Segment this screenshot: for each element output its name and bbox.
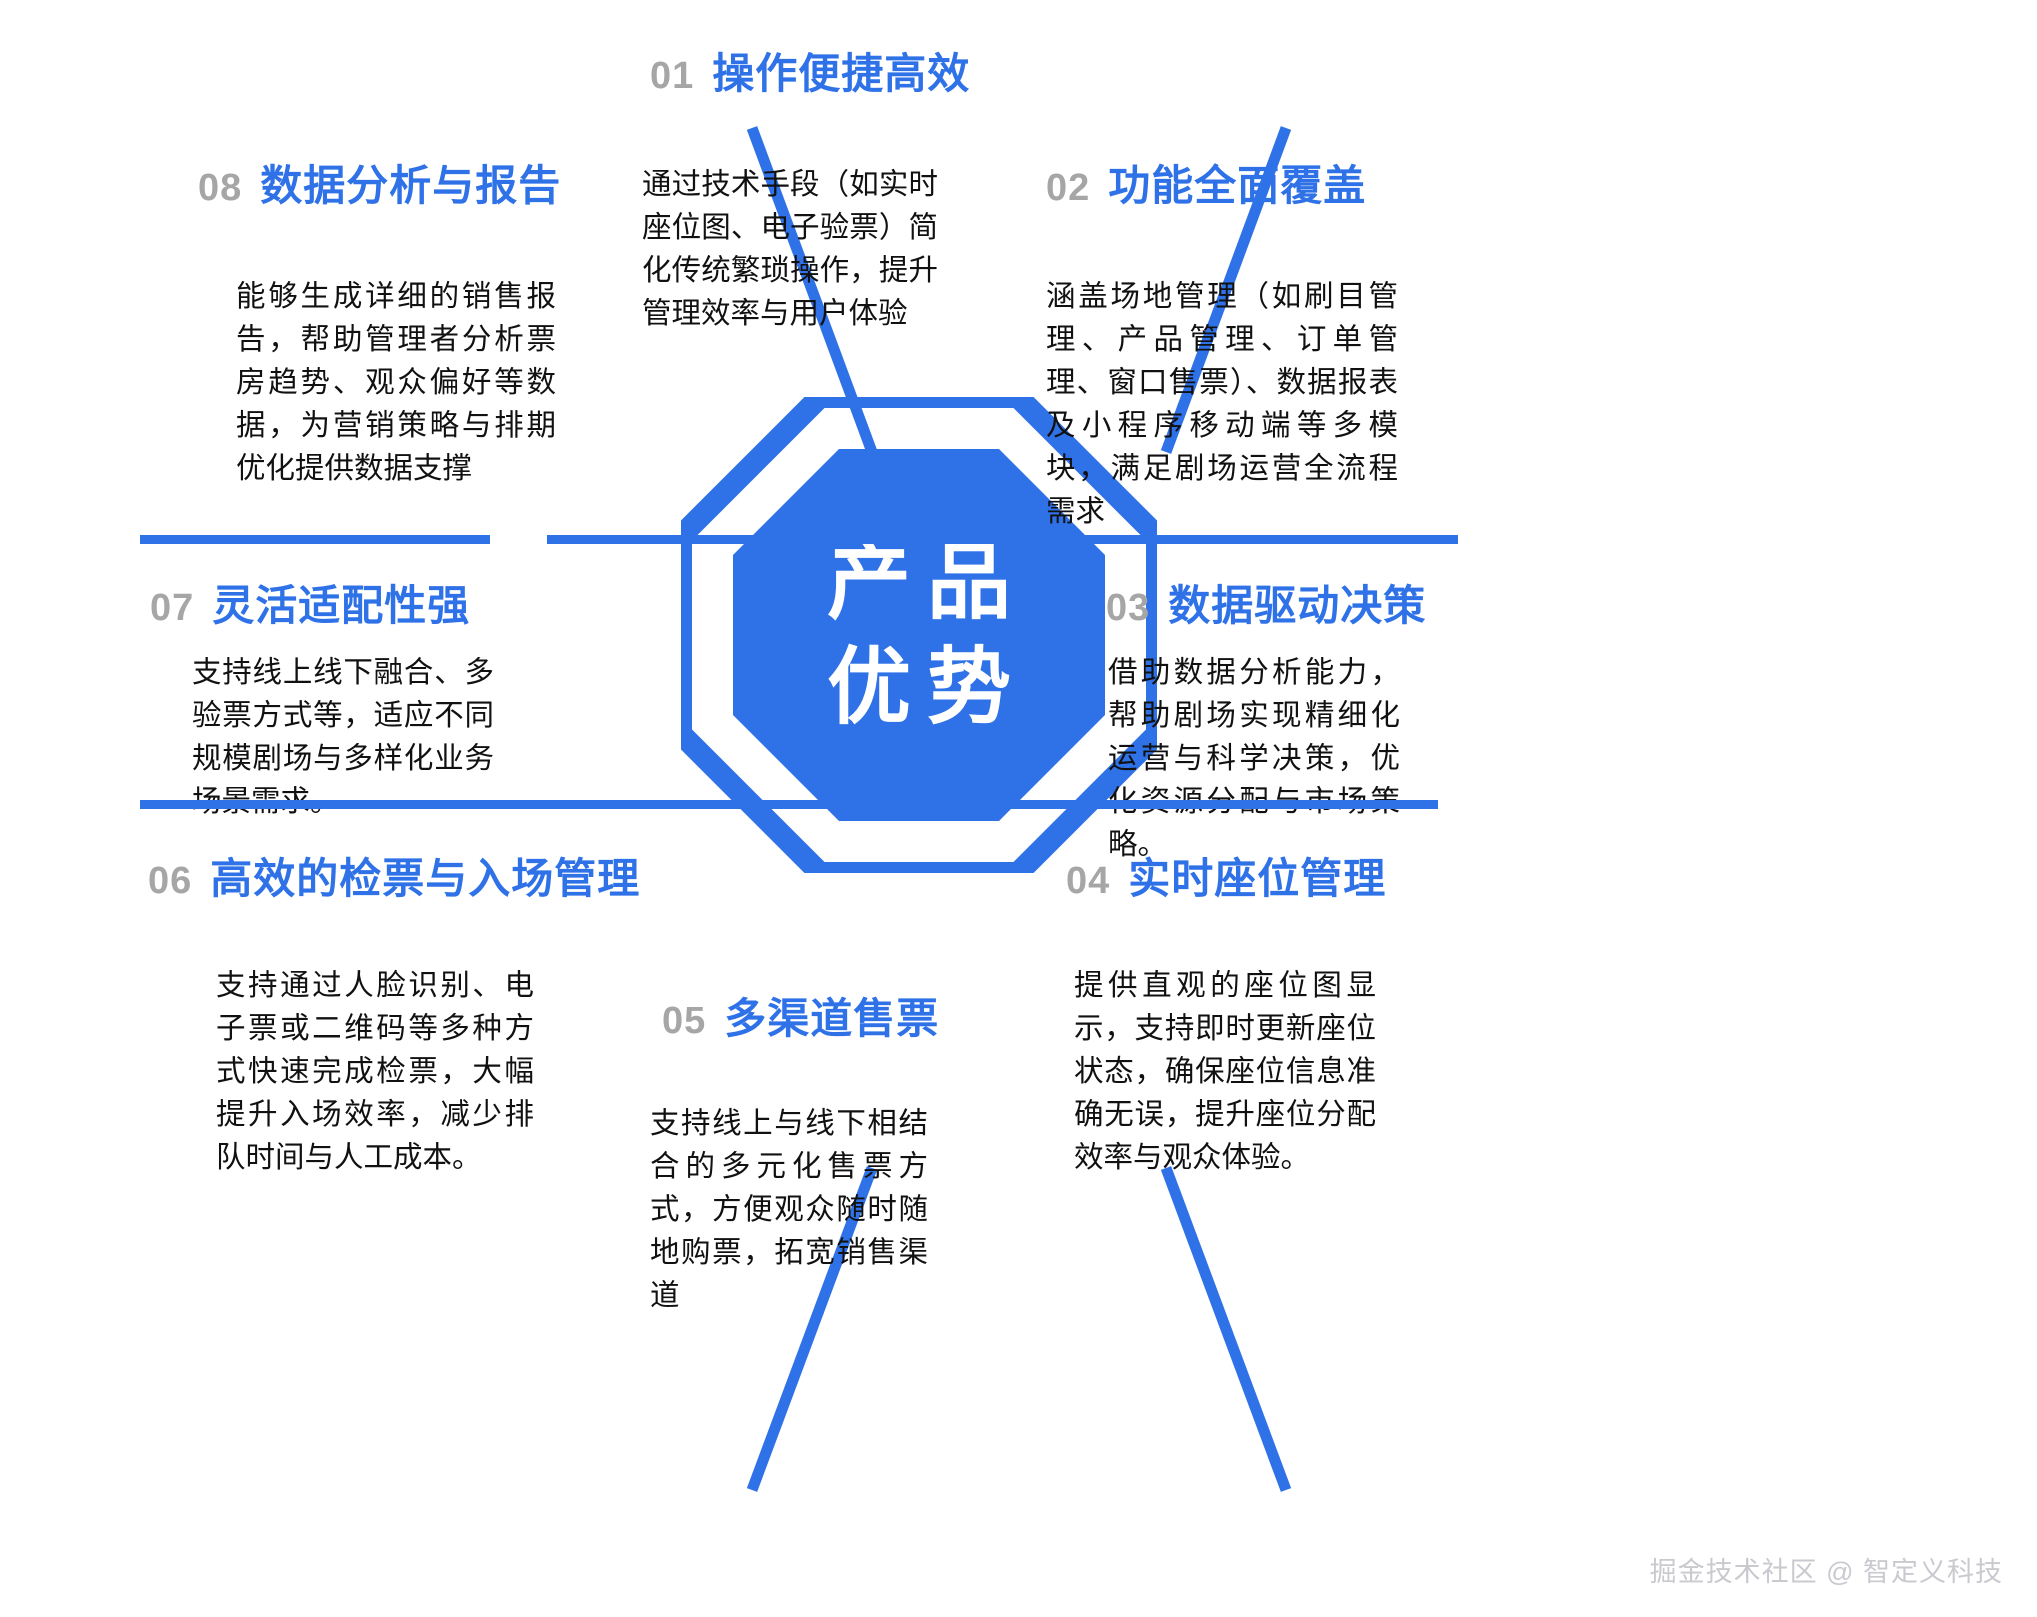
section-04-rule bbox=[527, 800, 1438, 809]
section-05-heading: 05 多渠道售票 bbox=[662, 985, 960, 1046]
section-03-rule bbox=[547, 535, 1458, 544]
section-06[interactable]: 06 高效的检票与入场管理 支持通过人脸识别、电子票或二维码等多种方式快速完成检… bbox=[140, 800, 570, 1179]
section-07-title: 灵活适配性强 bbox=[212, 572, 470, 633]
section-05-body: 支持线上与线下相结合的多元化售票方式，方便观众随时随地购票，拓宽销售渠道 bbox=[650, 1102, 928, 1317]
section-06-body: 支持通过人脸识别、电子票或二维码等多种方式快速完成检票，大幅提升入场效率，减少排… bbox=[216, 964, 534, 1179]
section-07-index: 07 bbox=[150, 587, 194, 630]
center-title-line2: 优势 bbox=[811, 638, 1027, 737]
section-01-title: 操作便捷高效 bbox=[712, 40, 970, 101]
section-04-body: 提供直观的座位图显示，支持即时更新座位状态，确保座位信息准确无误，提升座位分配效… bbox=[1074, 964, 1376, 1179]
section-02[interactable]: 02 功能全面覆盖 涵盖场地管理（如刷目管理、产品管理、订单管理、窗口售票）、数… bbox=[1046, 152, 1406, 533]
section-06-index: 06 bbox=[148, 860, 192, 903]
section-01-heading: 01 操作便捷高效 bbox=[650, 40, 962, 101]
section-01-index: 01 bbox=[650, 55, 694, 98]
section-03-title: 数据驱动决策 bbox=[1168, 572, 1426, 633]
section-07[interactable]: 07 灵活适配性强 支持线上线下融合、多验票方式等，适应不同规模剧场与多样化业务… bbox=[140, 535, 490, 823]
section-08-title: 数据分析与报告 bbox=[260, 152, 561, 213]
section-08-index: 08 bbox=[198, 167, 242, 210]
connector-bottom-right bbox=[1166, 1168, 1286, 1490]
section-06-title: 高效的检票与入场管理 bbox=[210, 845, 640, 906]
center-title-line1: 产品 bbox=[811, 533, 1027, 632]
section-07-heading: 07 灵活适配性强 bbox=[150, 572, 490, 633]
section-02-title: 功能全面覆盖 bbox=[1108, 152, 1366, 213]
section-08[interactable]: 08 数据分析与报告 能够生成详细的销售报告，帮助管理者分析票房趋势、观众偏好等… bbox=[198, 152, 548, 490]
section-08-body: 能够生成详细的销售报告，帮助管理者分析票房趋势、观众偏好等数据，为营销策略与排期… bbox=[236, 275, 556, 490]
section-05-index: 05 bbox=[662, 1000, 706, 1043]
watermark: 掘金技术社区 @ 智定义科技 bbox=[1650, 1550, 2003, 1589]
section-06-heading: 06 高效的检票与入场管理 bbox=[148, 845, 570, 906]
section-04-index: 04 bbox=[1066, 860, 1110, 903]
section-01[interactable]: 01 操作便捷高效 通过技术手段（如实时座位图、电子验票）简化传统繁琐操作，提升… bbox=[642, 40, 962, 335]
section-05[interactable]: 05 多渠道售票 支持线上与线下相结合的多元化售票方式，方便观众随时随地购票，拓… bbox=[650, 985, 960, 1317]
section-03-index: 03 bbox=[1106, 587, 1150, 630]
section-07-rule bbox=[140, 535, 490, 544]
section-05-title: 多渠道售票 bbox=[724, 985, 939, 1046]
section-04-title: 实时座位管理 bbox=[1128, 845, 1386, 906]
section-04-heading: 04 实时座位管理 bbox=[1066, 845, 1438, 906]
section-03-heading: 03 数据驱动决策 bbox=[1106, 572, 1458, 633]
section-02-index: 02 bbox=[1046, 167, 1090, 210]
section-02-body: 涵盖场地管理（如刷目管理、产品管理、订单管理、窗口售票）、数据报表及小程序移动端… bbox=[1046, 275, 1398, 533]
infographic-canvas: 产品 优势 01 操作便捷高效 通过技术手段（如实时座位图、电子验票）简化传统繁… bbox=[0, 0, 2037, 1617]
section-04[interactable]: 04 实时座位管理 提供直观的座位图显示，支持即时更新座位状态，确保座位信息准确… bbox=[1066, 800, 1438, 1179]
section-02-heading: 02 功能全面覆盖 bbox=[1046, 152, 1406, 213]
section-07-body: 支持线上线下融合、多验票方式等，适应不同规模剧场与多样化业务场景需求。 bbox=[192, 651, 494, 823]
section-01-body: 通过技术手段（如实时座位图、电子验票）简化传统繁琐操作，提升管理效率与用户体验 bbox=[642, 163, 938, 335]
section-06-rule bbox=[140, 800, 570, 809]
section-08-heading: 08 数据分析与报告 bbox=[198, 152, 548, 213]
